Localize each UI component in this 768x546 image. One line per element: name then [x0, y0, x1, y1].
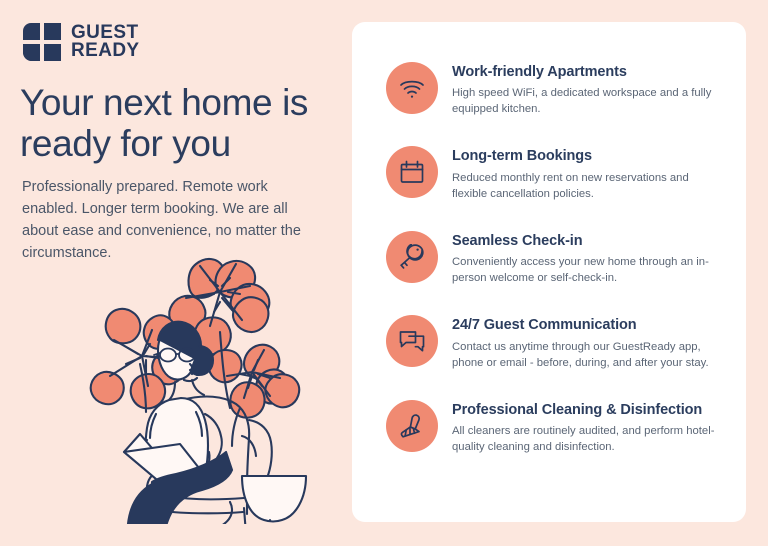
feature-title: Professional Cleaning & Disinfection: [452, 402, 724, 419]
hero-illustration: [44, 252, 320, 524]
hero-subcopy: Professionally prepared. Remote work ena…: [22, 176, 318, 264]
feature-list: Work-friendly Apartments High speed WiFi…: [352, 60, 746, 455]
broom-icon: [386, 400, 438, 452]
promo-page: GUEST READY Your next home is ready for …: [0, 0, 768, 546]
feature-text: Seamless Check-in Conveniently access yo…: [452, 229, 724, 286]
feature-title: Long-term Bookings: [452, 148, 724, 165]
feature-description: All cleaners are routinely audited, and …: [452, 423, 724, 455]
feature-text: Professional Cleaning & Disinfection All…: [452, 398, 724, 455]
brand-logo[interactable]: GUEST READY: [22, 22, 140, 62]
feature-item-professional-cleaning[interactable]: Professional Cleaning & Disinfection All…: [352, 398, 746, 455]
page-title: Your next home is ready for you: [20, 82, 340, 165]
feature-text: Work-friendly Apartments High speed WiFi…: [452, 60, 724, 117]
feature-item-seamless-check-in[interactable]: Seamless Check-in Conveniently access yo…: [352, 229, 746, 286]
feature-description: Contact us anytime through our GuestRead…: [452, 339, 724, 371]
hero-column: GUEST READY Your next home is ready for …: [0, 0, 352, 546]
guestready-logo-mark-icon: [22, 22, 62, 62]
key-icon: [386, 231, 438, 283]
wifi-icon: [386, 62, 438, 114]
feature-description: Reduced monthly rent on new reservations…: [452, 170, 724, 202]
feature-item-guest-communication[interactable]: 24/7 Guest Communication Contact us anyt…: [352, 313, 746, 370]
feature-title: Seamless Check-in: [452, 233, 724, 250]
feature-description: Conveniently access your new home throug…: [452, 254, 724, 286]
feature-title: Work-friendly Apartments: [452, 64, 724, 81]
calendar-icon: [386, 146, 438, 198]
feature-text: 24/7 Guest Communication Contact us anyt…: [452, 313, 724, 370]
feature-item-work-friendly-apartments[interactable]: Work-friendly Apartments High speed WiFi…: [352, 60, 746, 117]
feature-item-long-term-bookings[interactable]: Long-term Bookings Reduced monthly rent …: [352, 144, 746, 201]
feature-text: Long-term Bookings Reduced monthly rent …: [452, 144, 724, 201]
chat-bubbles-icon: [386, 315, 438, 367]
brand-name-line2: READY: [71, 42, 140, 60]
feature-title: 24/7 Guest Communication: [452, 317, 724, 334]
features-card: Work-friendly Apartments High speed WiFi…: [352, 22, 746, 522]
brand-wordmark: GUEST READY: [71, 24, 140, 61]
feature-description: High speed WiFi, a dedicated workspace a…: [452, 85, 724, 117]
